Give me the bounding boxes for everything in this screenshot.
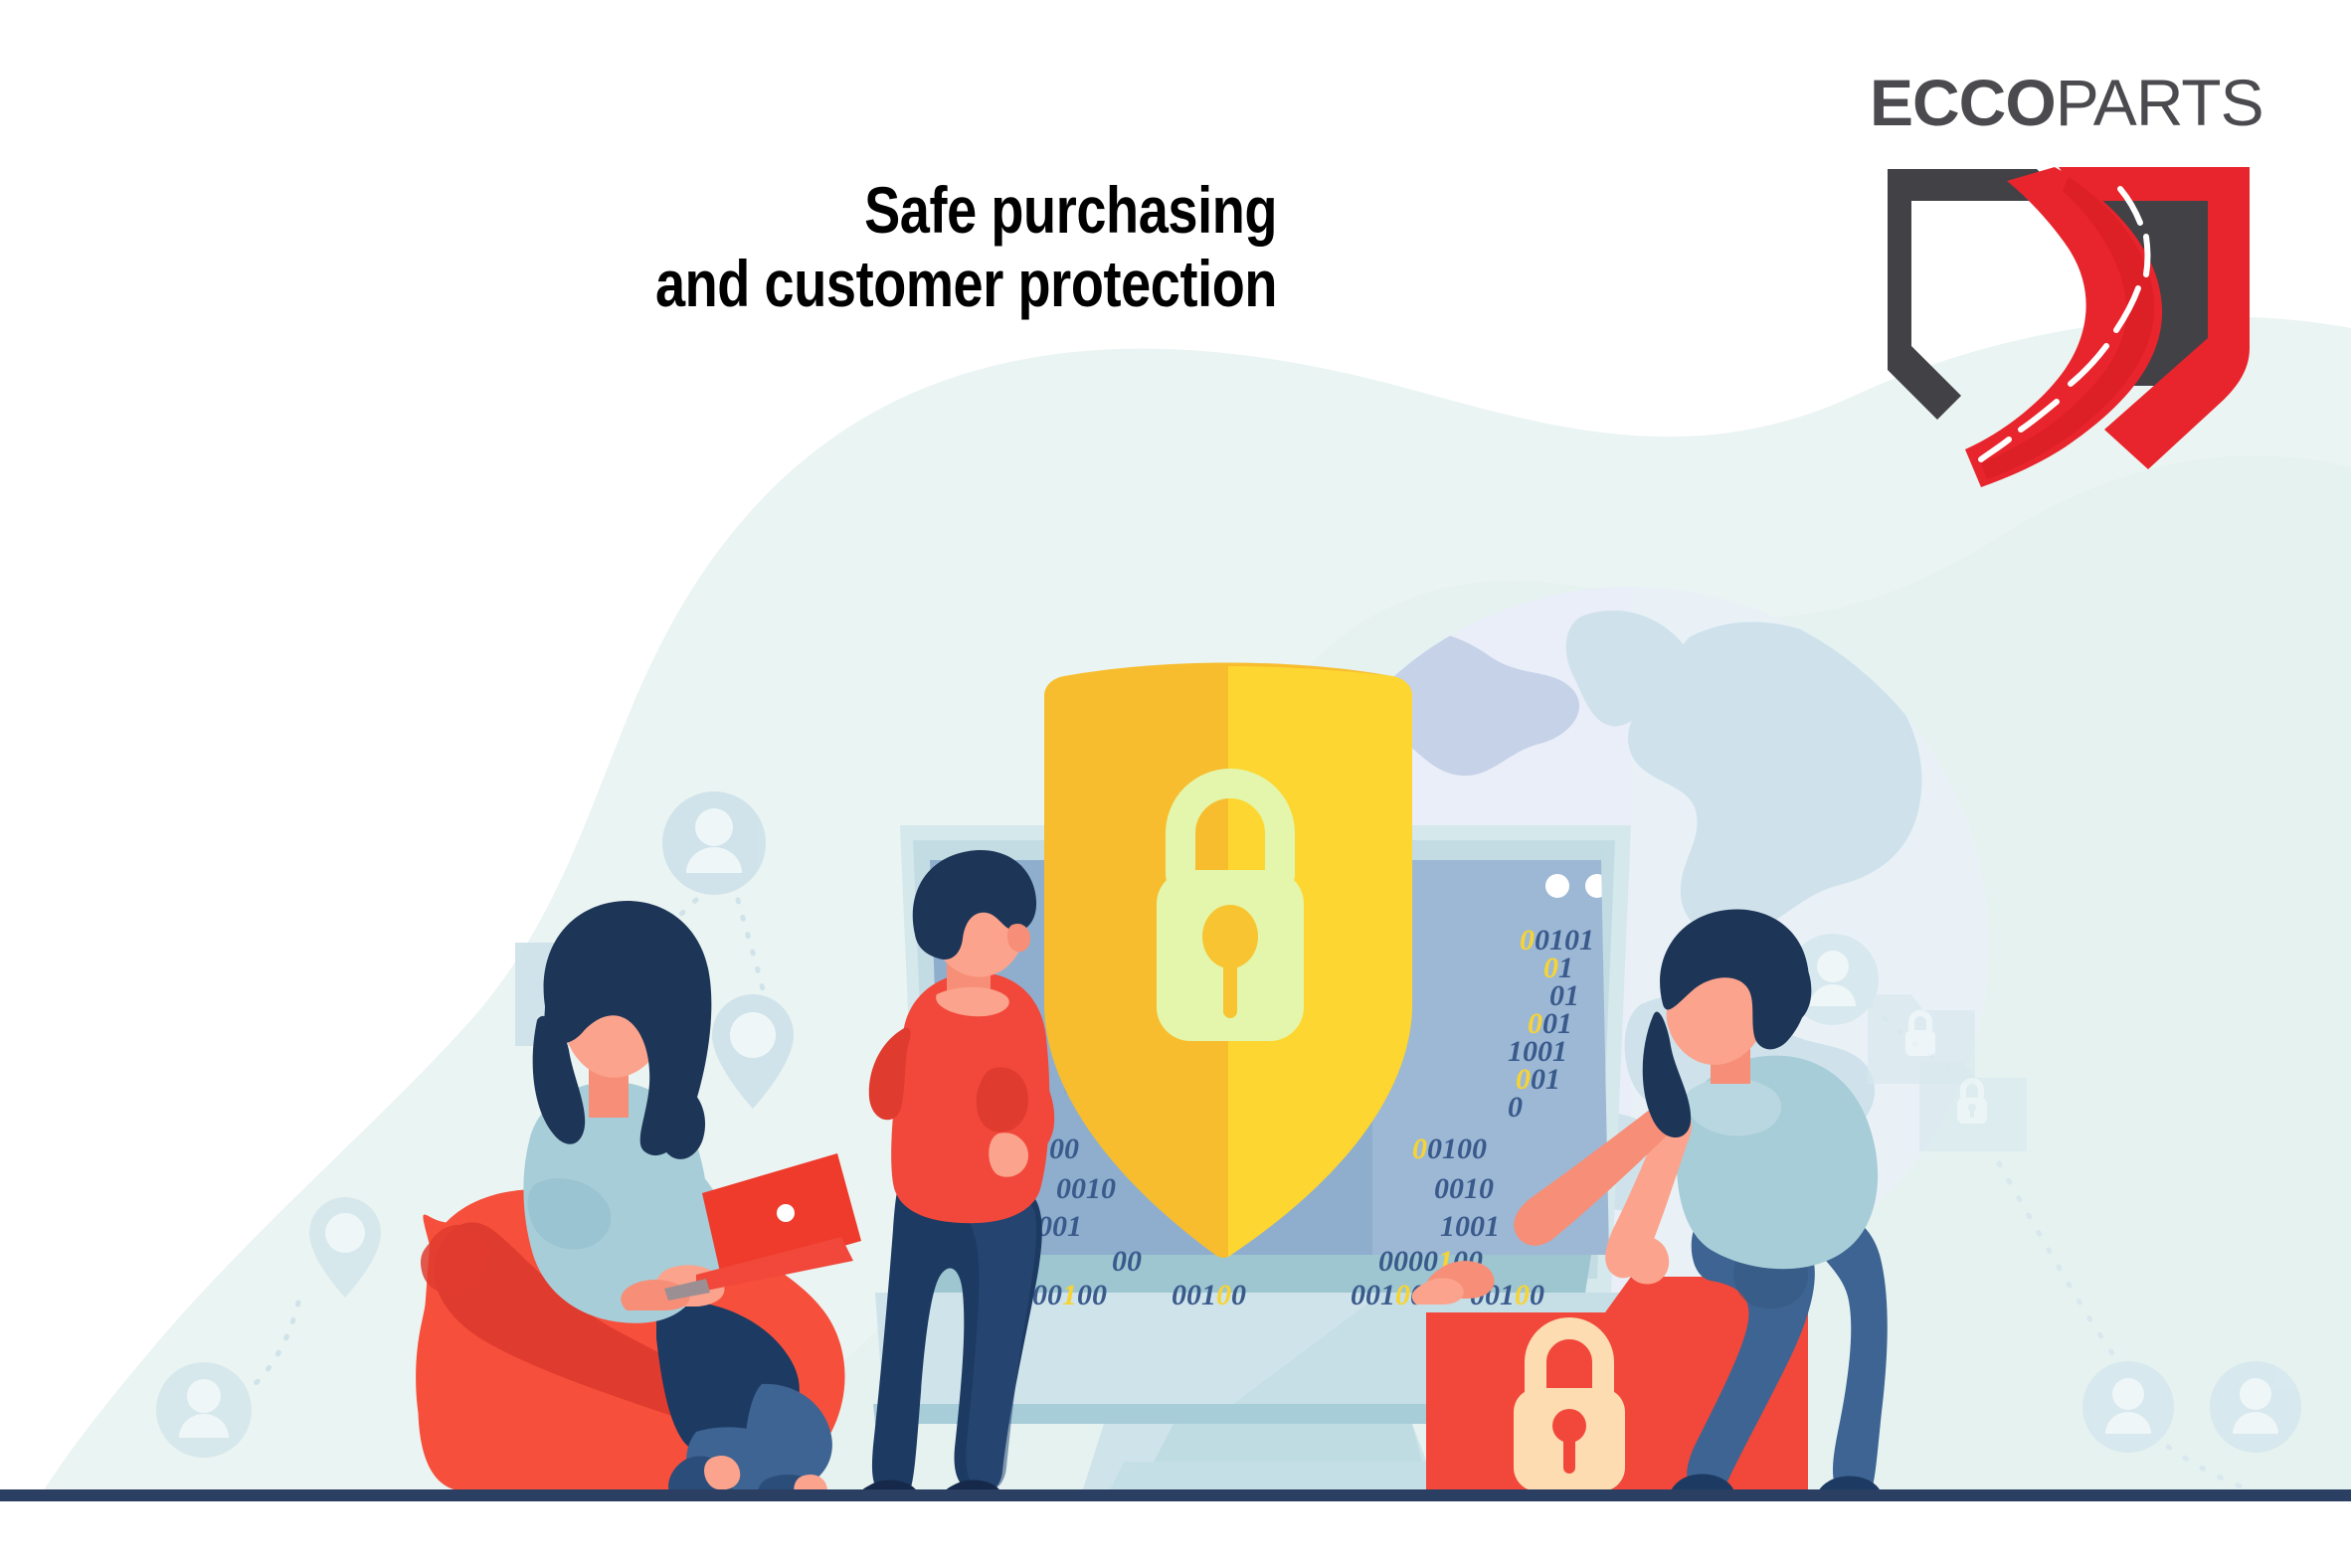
illustration-banner: 00100 0010 1001 00 00100 00100 00100 001… xyxy=(0,0,2351,1568)
ground-below xyxy=(0,1501,2351,1568)
brand-wordmark: ECCOPARTS xyxy=(1870,60,2267,145)
svg-text:00: 00 xyxy=(1112,1245,1142,1278)
brand-name-bold: ECCO xyxy=(1870,66,2056,139)
ground-line xyxy=(0,1489,2351,1501)
svg-text:1001: 1001 xyxy=(1440,1210,1500,1243)
page-title: Safe purchasing and customer protection xyxy=(543,174,1277,321)
svg-text:0: 0 xyxy=(1508,1091,1523,1124)
svg-text:00100: 00100 xyxy=(1172,1279,1246,1311)
svg-text:00100: 00100 xyxy=(1412,1132,1487,1165)
user-avatar-icon xyxy=(662,791,766,895)
shield-road-logo-icon xyxy=(1870,159,2267,507)
user-avatar-icon xyxy=(2210,1361,2301,1453)
brand-logo[interactable]: ECCOPARTS xyxy=(1870,60,2267,477)
user-avatar-icon xyxy=(2082,1361,2174,1453)
svg-text:0010: 0010 xyxy=(1434,1172,1494,1205)
headline-line-2: and customer protection xyxy=(543,248,1277,321)
brand-name-light: PARTS xyxy=(2056,66,2263,139)
svg-text:0010: 0010 xyxy=(1056,1172,1116,1205)
headline-line-1: Safe purchasing xyxy=(543,174,1277,248)
user-avatar-icon xyxy=(156,1362,252,1458)
svg-text:00100: 00100 xyxy=(1032,1279,1107,1311)
